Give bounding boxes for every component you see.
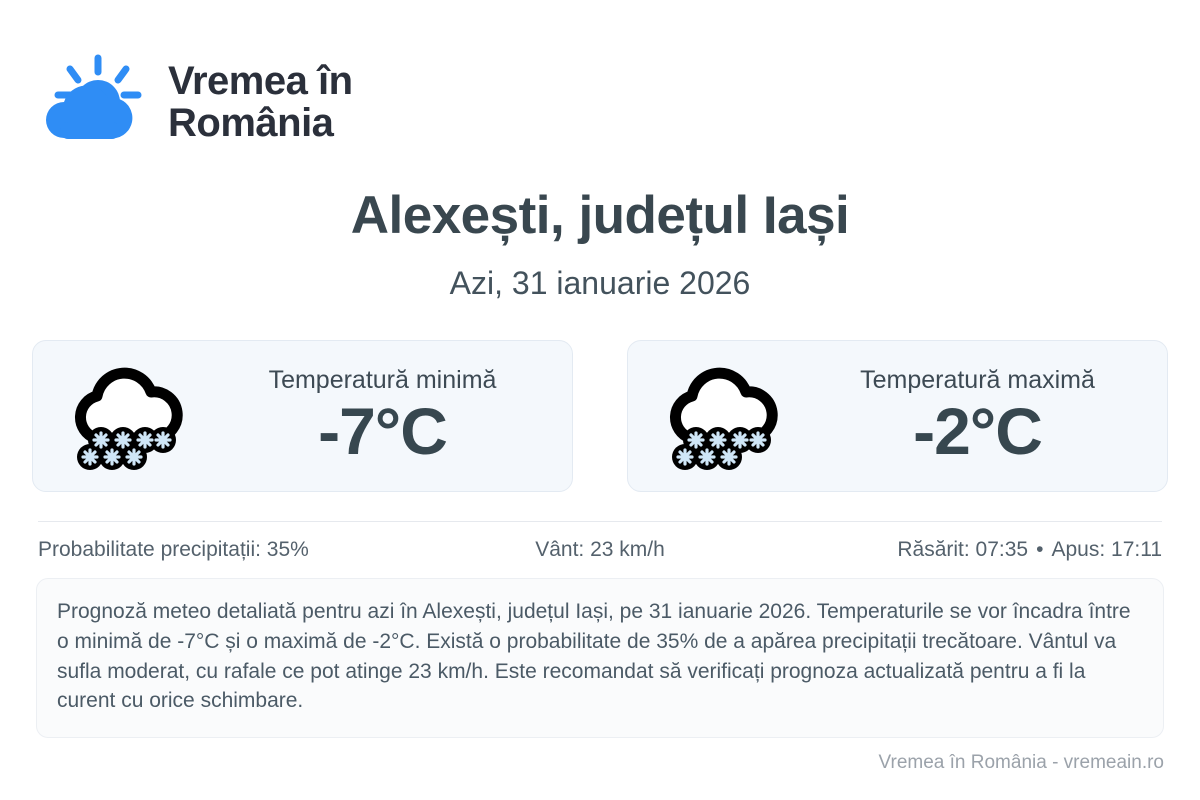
sunset-time: Apus: 17:11	[1051, 538, 1162, 561]
weather-page: Vremea în România Alexești, județul Iași…	[0, 0, 1200, 800]
min-temperature-value: -7°C	[318, 397, 447, 466]
brand-name: Vremea în România	[168, 60, 353, 144]
stats-divider	[38, 521, 1162, 522]
min-temperature-label: Temperatură minimă	[269, 365, 497, 395]
max-temperature-card: Temperatură maximă -2°C	[627, 340, 1168, 492]
sun-times-separator: •	[1036, 538, 1043, 561]
sun-behind-cloud-icon	[36, 52, 146, 152]
page-subtitle: Azi, 31 ianuarie 2026	[0, 265, 1200, 302]
max-temperature-value: -2°C	[913, 397, 1042, 466]
snow-cloud-icon	[61, 360, 193, 472]
stats-row: Probabilitate precipitații: 35% Vânt: 23…	[38, 538, 1162, 562]
page-title: Alexești, județul Iași	[0, 185, 1200, 246]
footer-attribution: Vremea în România - vremeain.ro	[879, 752, 1164, 774]
precipitation-stat: Probabilitate precipitații: 35%	[38, 538, 413, 562]
sunrise-time: Răsărit: 07:35	[897, 538, 1028, 561]
max-temperature-label: Temperatură maximă	[860, 365, 1095, 395]
min-temperature-card: Temperatură minimă -7°C	[32, 340, 573, 492]
min-temperature-text: Temperatură minimă -7°C	[211, 365, 554, 466]
snow-cloud-icon	[656, 360, 788, 472]
sun-times-stat: Răsărit: 07:35•Apus: 17:11	[787, 538, 1162, 562]
brand-header[interactable]: Vremea în România	[36, 52, 353, 152]
forecast-description-panel: Prognoză meteo detaliată pentru azi în A…	[36, 578, 1164, 738]
forecast-description-text: Prognoză meteo detaliată pentru azi în A…	[57, 597, 1139, 716]
wind-stat: Vânt: 23 km/h	[413, 538, 788, 562]
max-temperature-text: Temperatură maximă -2°C	[806, 365, 1149, 466]
temperature-cards: Temperatură minimă -7°C	[32, 340, 1168, 492]
